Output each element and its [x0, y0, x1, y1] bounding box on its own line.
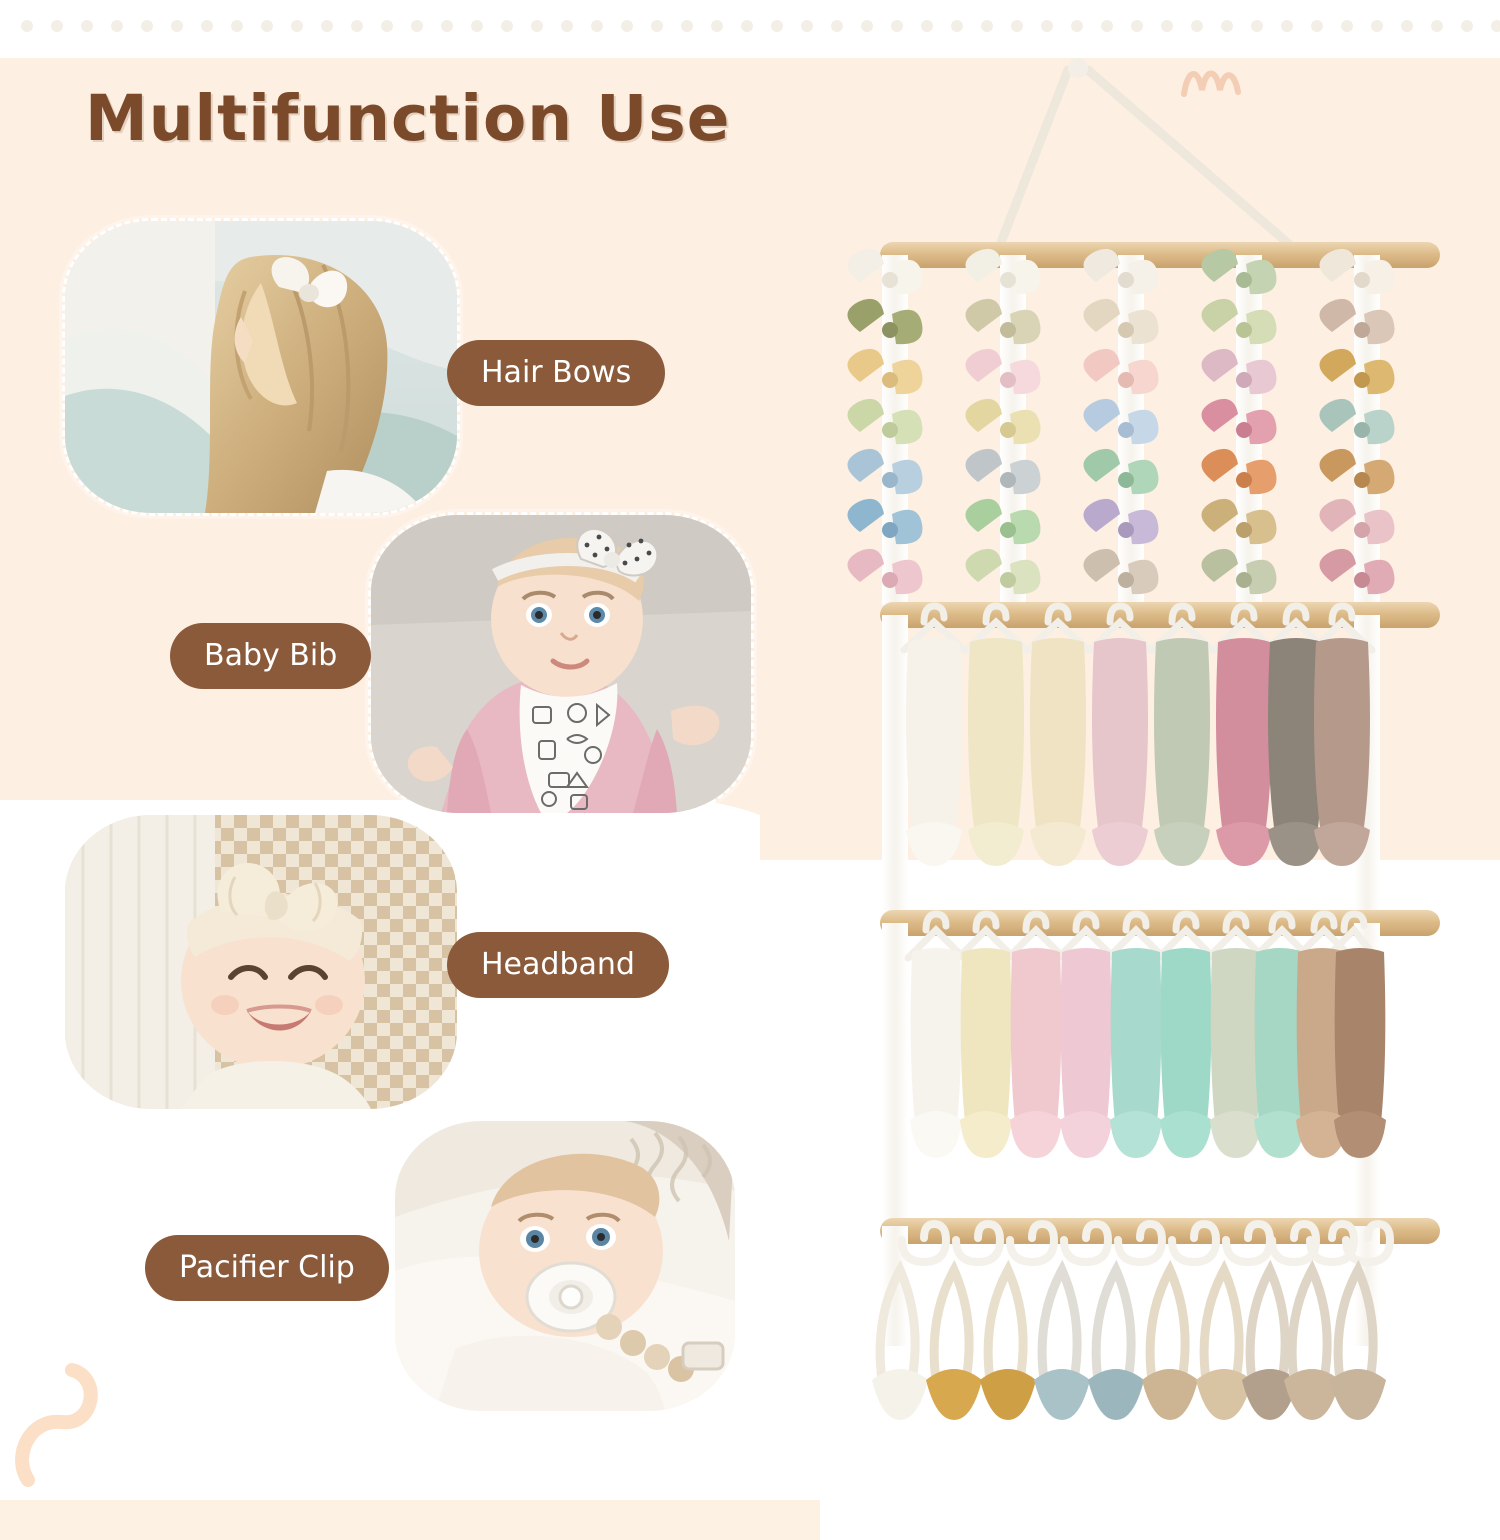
photo-pacifier-clip: [392, 1118, 738, 1414]
page-title: Multifunction Use: [85, 82, 730, 155]
bib-row: [906, 638, 1370, 866]
photo-pacifier-clip-image: [395, 1121, 735, 1411]
photo-baby-bib-image: [371, 515, 751, 813]
photo-hair-bows: [62, 218, 460, 516]
pill-hair-bows: Hair Bows: [447, 340, 665, 406]
product-organizer: [820, 30, 1480, 1490]
pill-headband-label: Headband: [481, 947, 635, 982]
pill-pacifier-clip: Pacifier Clip: [145, 1235, 389, 1301]
pill-baby-bib-label: Baby Bib: [204, 638, 337, 673]
pill-hair-bows-label: Hair Bows: [481, 355, 631, 390]
pill-baby-bib: Baby Bib: [170, 623, 371, 689]
photo-hair-bows-image: [65, 221, 457, 513]
headband-row: [910, 948, 1386, 1158]
photo-headband-image: [65, 815, 457, 1109]
photo-headband: [62, 812, 460, 1112]
squiggle-decoration-bottom-icon: [10, 1360, 130, 1490]
pill-pacifier-clip-label: Pacifier Clip: [179, 1250, 355, 1285]
photo-baby-bib: [368, 512, 754, 816]
product-organizer-image: [820, 30, 1480, 1490]
pill-headband: Headband: [447, 932, 669, 998]
pacifier-clip-row: [872, 1270, 1386, 1420]
